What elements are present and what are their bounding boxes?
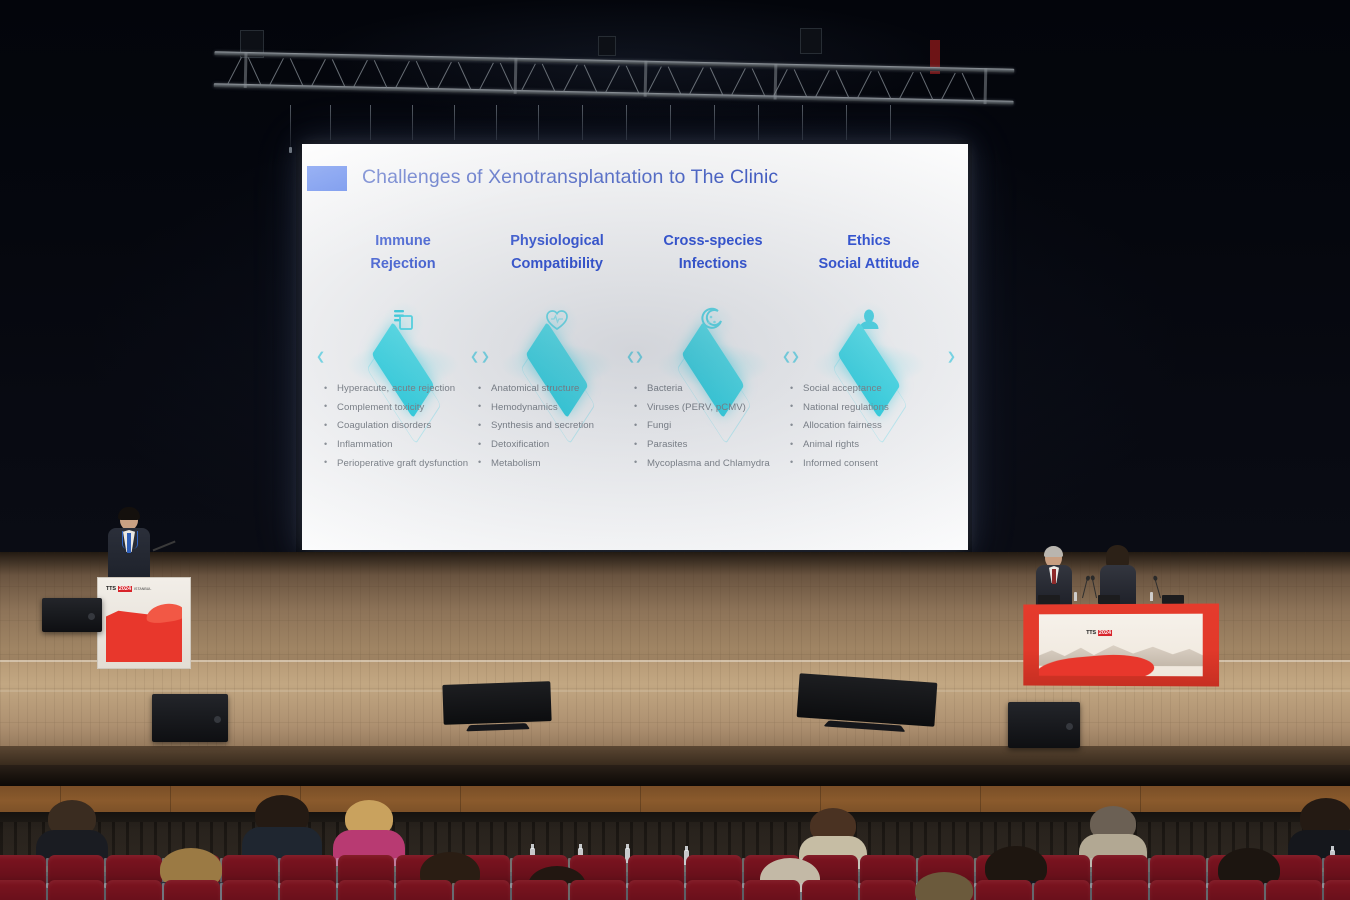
panel-table-branding: TTS 2024 — [1086, 630, 1112, 636]
confidence-monitor — [442, 681, 551, 725]
water-bottle — [1150, 592, 1153, 601]
theater-seat — [396, 880, 452, 900]
laptop — [1162, 595, 1184, 604]
theater-seat — [976, 880, 1032, 900]
hall-vignette — [0, 0, 1350, 620]
stage-seam — [0, 690, 1350, 692]
water-bottle — [1074, 592, 1077, 601]
stage-monitor-speaker — [42, 598, 102, 632]
panelist-tie — [1052, 569, 1056, 584]
audience-person — [345, 800, 393, 862]
theater-seat — [1092, 880, 1148, 900]
lectern-branding: TTS 2024 ISTANBUL — [106, 584, 182, 594]
stage-monitor-speaker — [1008, 702, 1080, 748]
panel-table-artwork: TTS 2024 — [1039, 614, 1203, 677]
brand-mark: TTS — [1086, 630, 1096, 636]
presenter-lanyard — [122, 531, 138, 549]
theater-seat — [686, 880, 742, 900]
theater-seat — [744, 880, 800, 900]
presenter-hair — [118, 507, 140, 520]
lectern-graphic — [106, 600, 182, 662]
theater-seat — [1208, 880, 1264, 900]
laptop — [1038, 595, 1060, 604]
audience-person — [48, 800, 96, 862]
audience-person — [915, 872, 973, 900]
panelist-hair — [1044, 546, 1063, 557]
brand-mark: TTS — [106, 586, 116, 592]
theater-seat — [222, 880, 278, 900]
theater-seat — [802, 880, 858, 900]
theater-seat — [1266, 880, 1322, 900]
theater-seat — [860, 880, 916, 900]
audience-person — [255, 795, 309, 861]
theater-seat — [164, 880, 220, 900]
brand-year: 2024 — [1098, 630, 1112, 636]
theater-seat — [1150, 880, 1206, 900]
presenter — [108, 509, 150, 581]
theater-seat — [338, 880, 394, 900]
theater-seat — [48, 880, 104, 900]
theater-seat — [1034, 880, 1090, 900]
theater-seat — [280, 880, 336, 900]
theater-seat — [454, 880, 510, 900]
theater-seat — [106, 880, 162, 900]
theater-seat — [570, 880, 626, 900]
theater-seat — [512, 880, 568, 900]
laptop — [1098, 595, 1120, 604]
brand-subtitle: ISTANBUL — [134, 587, 151, 591]
panel-table: TTS 2024 — [1023, 603, 1219, 686]
brand-year: 2024 — [118, 586, 132, 592]
theater-seat — [628, 880, 684, 900]
auditorium-scene: Challenges of Xenotransplantation to The… — [0, 0, 1350, 900]
theater-seat — [1324, 880, 1350, 900]
lectern: TTS 2024 ISTANBUL — [97, 577, 191, 669]
seat-row — [0, 880, 1350, 900]
stage-monitor-speaker — [152, 694, 228, 742]
theater-seat — [0, 880, 46, 900]
